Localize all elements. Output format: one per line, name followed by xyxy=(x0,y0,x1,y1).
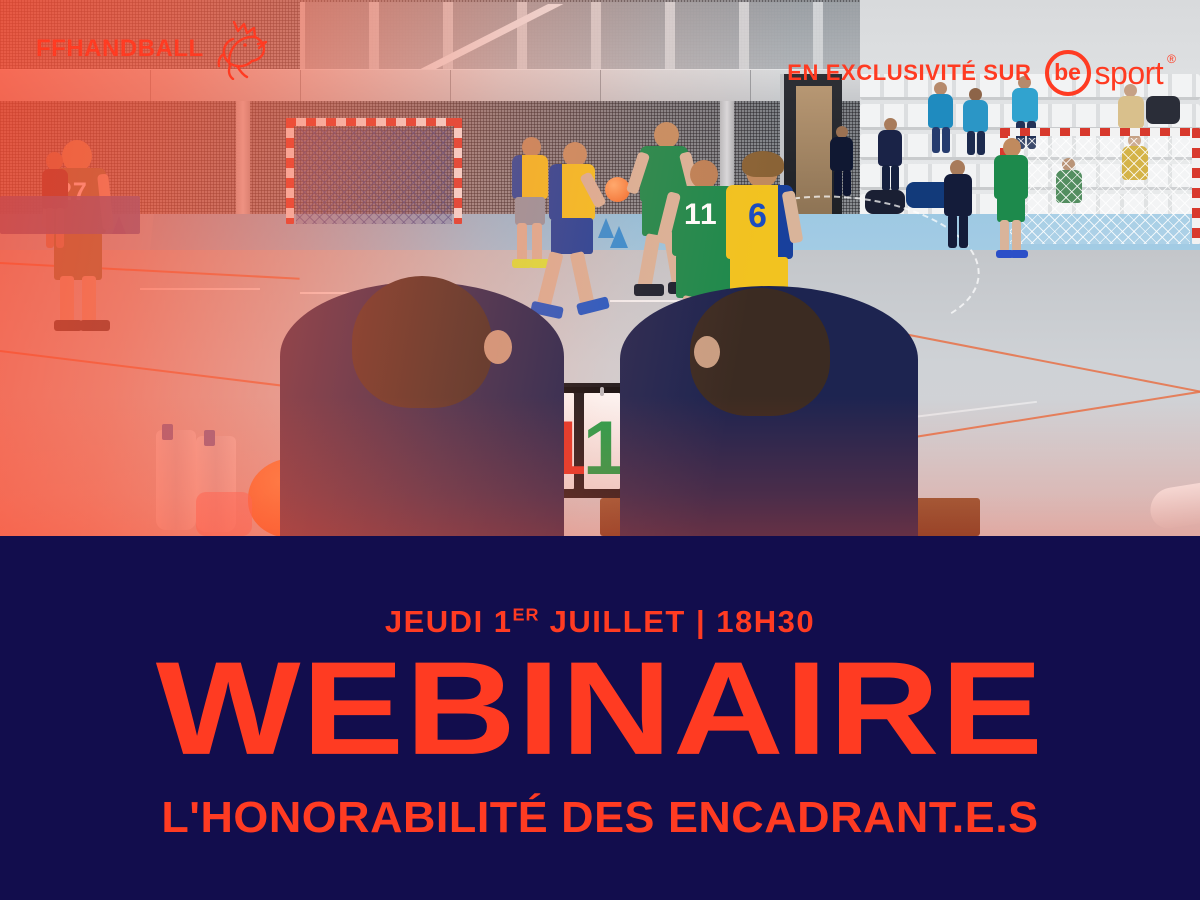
gym-pillar xyxy=(236,101,250,221)
sports-bag xyxy=(1146,96,1180,124)
water-bottle xyxy=(156,430,196,530)
pink-towel xyxy=(196,492,252,536)
besport-mark: be xyxy=(1045,50,1091,96)
bottle-cap xyxy=(204,430,215,446)
foreground-person-left-head xyxy=(352,276,492,408)
page-title: WEBINAIRE xyxy=(0,645,1200,772)
rooster-icon xyxy=(214,18,268,80)
event-date-ordinal: ER xyxy=(513,605,540,625)
event-info-block: JEUDI 1ER JUILLET | 18H30 WEBINAIRE L'HO… xyxy=(0,536,1200,900)
player-number: 11 xyxy=(684,200,718,230)
player-hair xyxy=(742,151,784,177)
player-number: 6 xyxy=(748,199,767,233)
page-subtitle: L'HONORABILITÉ DES ENCADRANT.E.S xyxy=(0,793,1200,843)
ffhandball-logo-text: FFHANDBALL xyxy=(36,35,204,63)
ffhandball-logo[interactable]: FFHANDBALL xyxy=(36,18,268,80)
sponsor-banner xyxy=(0,196,140,234)
exclusivity-banner: EN EXCLUSIVITÉ SUR be sport ® xyxy=(787,50,1176,96)
registered-trademark-icon: ® xyxy=(1167,52,1176,66)
besport-word: sport xyxy=(1095,55,1164,92)
foreground-person-left-ear xyxy=(484,330,512,364)
poster-root: 27 xyxy=(0,0,1200,900)
exclusivity-label: EN EXCLUSIVITÉ SUR xyxy=(787,60,1031,86)
handball-goal-left xyxy=(286,118,462,224)
besport-logo[interactable]: be sport ® xyxy=(1045,50,1176,96)
handball-goal-right xyxy=(1000,128,1200,244)
court-line xyxy=(140,288,260,290)
foreground-person-right-ear xyxy=(694,336,720,368)
gym-window-reflection xyxy=(370,4,590,78)
bottle-cap xyxy=(162,424,173,440)
